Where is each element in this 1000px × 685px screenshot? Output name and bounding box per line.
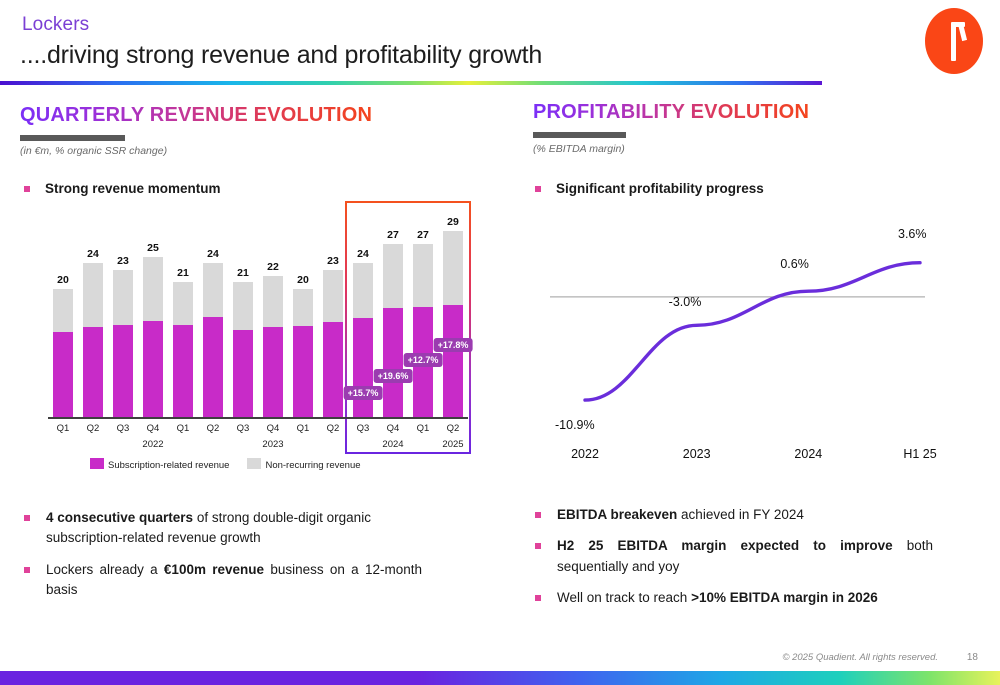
growth-rate-badge: +15.7% (344, 386, 383, 400)
bullet-emphasis: EBITDA breakeven (557, 507, 677, 522)
bar-column: 24 (78, 263, 108, 417)
bar-total-label: 21 (177, 267, 189, 279)
bar-stack: 24+15.7% (353, 263, 373, 417)
bar-stack: 24 (83, 263, 103, 417)
x-tick-quarter: Q3 (228, 423, 258, 434)
data-point-label: 3.6% (898, 227, 927, 241)
section-underline-revenue (20, 135, 125, 141)
bar-stack: 24 (203, 263, 223, 417)
x-tick-quarter: Q4 (378, 423, 408, 434)
x-tick-label: 2023 (662, 447, 732, 461)
bar-segment-subscription (113, 325, 133, 417)
bar-total-label: 23 (117, 255, 129, 267)
bullet-emphasis: H2 25 EBITDA margin expected to improve (557, 538, 893, 553)
profitability-line-chart: -10.9%-3.0%0.6%3.6%202220232024H1 25 (530, 215, 960, 475)
x-tick-year: 2025 (438, 439, 468, 450)
bar-stack: 29+17.8% (443, 231, 463, 417)
section-title-revenue: QUARTERLY REVENUE EVOLUTION (20, 104, 372, 127)
bar-column: 21 (228, 282, 258, 417)
quarterly-revenue-bar-chart: 2024232521242122202324+15.7%27+19.6%27+1… (20, 200, 490, 485)
bar-total-label: 23 (327, 255, 339, 267)
bar-total-label: 24 (357, 248, 369, 260)
bar-segment-subscription (203, 317, 223, 417)
x-tick-quarter: Q1 (408, 423, 438, 434)
bar-column: 27+19.6% (378, 244, 408, 417)
bar-total-label: 21 (237, 267, 249, 279)
bar-total-label: 24 (87, 248, 99, 260)
bar-segment-subscription (293, 326, 313, 417)
bar-segment-non-recurring (83, 263, 103, 327)
legend-swatch (247, 458, 261, 469)
slide-kicker: Lockers (22, 14, 89, 36)
growth-rate-badge: +19.6% (374, 369, 413, 383)
bar-total-label: 22 (267, 261, 279, 273)
bar-segment-subscription (263, 327, 283, 417)
bar-segment-subscription (353, 318, 373, 417)
x-axis-line (48, 417, 468, 419)
bar-segment-subscription (143, 321, 163, 417)
bullet-text: Lockers already a (46, 562, 164, 577)
bar-segment-subscription (383, 308, 403, 417)
x-tick-quarter: Q1 (48, 423, 78, 434)
bar-stack: 23 (113, 270, 133, 417)
bullet-item: Lockers already a €100m revenue business… (22, 560, 422, 601)
bar-column: 27+12.7% (408, 244, 438, 417)
bar-column: 23 (108, 270, 138, 417)
margin-trend-line (585, 263, 920, 400)
x-tick-quarter: Q2 (198, 423, 228, 434)
bullet-item: 4 consecutive quarters of strong double-… (22, 508, 422, 549)
data-point-label: 0.6% (780, 257, 809, 271)
bar-column: 20 (48, 289, 78, 417)
legend-swatch (90, 458, 104, 469)
data-point-label: -10.9% (555, 418, 595, 432)
bar-segment-non-recurring (143, 257, 163, 321)
bar-segment-non-recurring (413, 244, 433, 307)
bullet-marker-profitability (535, 186, 541, 192)
bar-total-label: 29 (447, 216, 459, 228)
bar-stack: 27+19.6% (383, 244, 403, 417)
bar-total-label: 24 (207, 248, 219, 260)
footer-gradient-bar (0, 671, 1000, 685)
bar-segment-non-recurring (383, 244, 403, 308)
x-tick-quarter: Q1 (288, 423, 318, 434)
bar-segment-non-recurring (173, 282, 193, 325)
bar-column: 29+17.8% (438, 231, 468, 417)
line-chart-svg (530, 215, 960, 475)
bar-stack: 25 (143, 257, 163, 417)
legend-label: Subscription-related revenue (108, 460, 229, 471)
x-tick-quarter: Q2 (78, 423, 108, 434)
subhead-profitability: Significant profitability progress (556, 181, 764, 196)
bar-total-label: 20 (297, 274, 309, 286)
legend-label: Non-recurring revenue (265, 460, 360, 471)
legend-item: Subscription-related revenue (90, 458, 229, 471)
bar-segment-subscription (323, 322, 343, 417)
bullet-item: Well on track to reach >10% EBITDA margi… (533, 588, 933, 608)
x-tick-year: 2024 (378, 439, 408, 450)
bar-plot-area: 2024232521242122202324+15.7%27+19.6%27+1… (48, 212, 468, 417)
x-tick-quarter: Q2 (438, 423, 468, 434)
logo-glyph-diagonal (958, 23, 967, 41)
slide-headline: ....driving strong revenue and profitabi… (20, 41, 542, 70)
bar-total-label: 27 (417, 229, 429, 241)
bar-segment-non-recurring (293, 289, 313, 326)
bar-total-label: 27 (387, 229, 399, 241)
bar-stack: 21 (173, 282, 193, 417)
x-tick-quarter: Q3 (108, 423, 138, 434)
bullet-list-profitability: EBITDA breakeven achieved in FY 2024H2 2… (533, 505, 933, 619)
bullet-emphasis: €100m revenue (164, 562, 264, 577)
x-tick-label: H1 25 (885, 447, 955, 461)
data-point-label: -3.0% (669, 295, 702, 309)
bar-segment-non-recurring (203, 263, 223, 317)
bar-stack: 27+12.7% (413, 244, 433, 417)
bar-segment-non-recurring (323, 270, 343, 322)
section-subtitle-profitability: (% EBITDA margin) (533, 143, 625, 155)
bar-stack: 20 (293, 289, 313, 417)
growth-rate-badge: +17.8% (434, 338, 473, 352)
bullet-item: H2 25 EBITDA margin expected to improve … (533, 536, 933, 577)
bar-total-label: 20 (57, 274, 69, 286)
bar-column: 25 (138, 257, 168, 417)
bar-segment-non-recurring (443, 231, 463, 305)
x-tick-label: 2022 (550, 447, 620, 461)
section-underline-profitability (533, 132, 626, 138)
bullet-item: EBITDA breakeven achieved in FY 2024 (533, 505, 933, 525)
growth-rate-badge: +12.7% (404, 353, 443, 367)
bar-segment-subscription (53, 332, 73, 417)
bar-segment-non-recurring (113, 270, 133, 326)
bullet-text: Well on track to reach (557, 590, 691, 605)
section-subtitle-revenue: (in €m, % organic SSR change) (20, 145, 167, 157)
quadient-logo-icon (925, 8, 983, 74)
footer-copyright: © 2025 Quadient. All rights reserved. (782, 652, 938, 663)
bar-total-label: 25 (147, 242, 159, 254)
bar-segment-non-recurring (53, 289, 73, 333)
x-tick-quarter: Q2 (318, 423, 348, 434)
bar-segment-non-recurring (233, 282, 253, 329)
bullet-list-revenue: 4 consecutive quarters of strong double-… (22, 508, 422, 611)
x-tick-year: 2023 (258, 439, 288, 450)
bar-stack: 22 (263, 276, 283, 417)
x-tick-label: 2024 (773, 447, 843, 461)
bar-segment-subscription (83, 327, 103, 417)
x-tick-quarter: Q4 (138, 423, 168, 434)
bullet-text: achieved in FY 2024 (677, 507, 804, 522)
bullet-emphasis: >10% EBITDA margin in 2026 (691, 590, 878, 605)
x-tick-year: 2022 (138, 439, 168, 450)
x-tick-quarter: Q1 (168, 423, 198, 434)
bullet-marker-revenue (24, 186, 30, 192)
bar-column: 24 (198, 263, 228, 417)
bar-stack: 20 (53, 289, 73, 417)
bar-segment-subscription (173, 325, 193, 417)
bar-segment-non-recurring (263, 276, 283, 327)
bar-column: 24+15.7% (348, 263, 378, 417)
slide: Lockers ....driving strong revenue and p… (0, 0, 1000, 685)
bullet-emphasis: 4 consecutive quarters (46, 510, 193, 525)
bar-stack: 23 (323, 270, 343, 417)
header-gradient-rule (0, 81, 822, 85)
logo-glyph-vertical (951, 25, 956, 61)
bar-column: 20 (288, 289, 318, 417)
bar-segment-non-recurring (353, 263, 373, 317)
bar-column: 21 (168, 282, 198, 417)
bar-column: 22 (258, 276, 288, 417)
x-tick-quarter: Q4 (258, 423, 288, 434)
x-tick-quarter: Q3 (348, 423, 378, 434)
bar-chart-legend: Subscription-related revenueNon-recurrin… (90, 458, 379, 471)
footer-page-number: 18 (967, 652, 978, 663)
section-title-profitability: PROFITABILITY EVOLUTION (533, 101, 809, 124)
bar-segment-subscription (443, 305, 463, 417)
bar-stack: 21 (233, 282, 253, 417)
legend-item: Non-recurring revenue (247, 458, 360, 471)
subhead-revenue: Strong revenue momentum (45, 181, 221, 196)
bar-segment-subscription (233, 330, 253, 417)
